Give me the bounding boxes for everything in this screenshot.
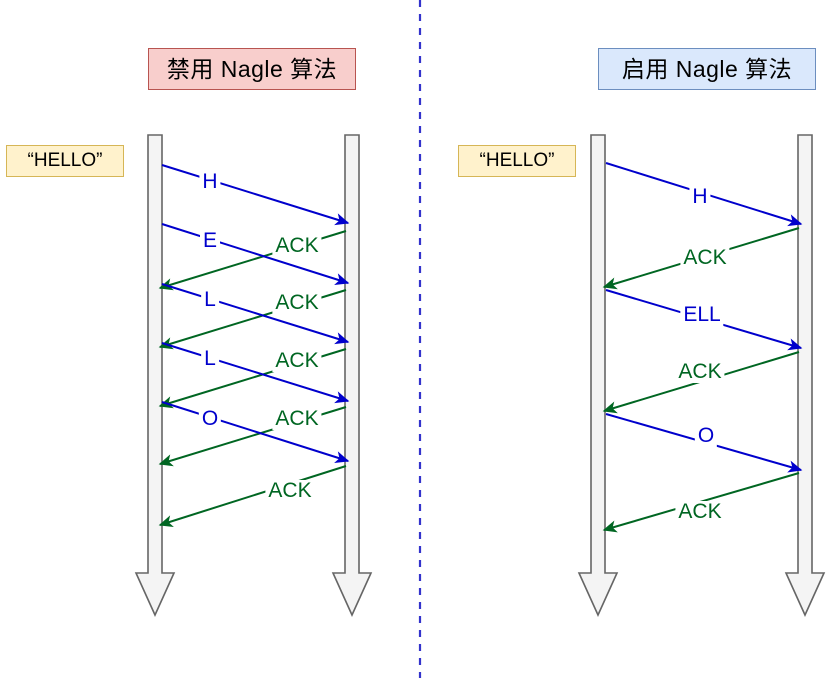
left-message-1-label: ACK <box>272 235 321 257</box>
message-arrows-layer <box>160 163 801 530</box>
panel-title-nagle-disabled: 禁用 Nagle 算法 <box>148 48 356 90</box>
left-message-3-label: ACK <box>272 292 321 314</box>
right-message-5-label: ACK <box>675 501 724 523</box>
left-client-lifeline <box>136 135 174 615</box>
left-message-0-data-arrow <box>162 165 348 223</box>
right-server-lifeline <box>786 135 824 615</box>
right-message-0-label: H <box>689 186 710 208</box>
left-message-5-label: ACK <box>272 350 321 372</box>
left-server-lifeline <box>333 135 371 615</box>
right-message-3-label: ACK <box>675 361 724 383</box>
left-message-7-label: ACK <box>272 408 321 430</box>
right-client-lifeline <box>579 135 617 615</box>
left-message-4-label: L <box>201 289 219 311</box>
left-message-9-ack-arrow <box>160 466 346 525</box>
left-message-8-label: O <box>199 408 221 430</box>
left-message-6-label: L <box>201 348 219 370</box>
right-message-2-label: ELL <box>680 304 723 326</box>
left-message-0-label: H <box>199 171 220 193</box>
left-message-2-label: E <box>200 230 220 252</box>
panel-title-nagle-enabled: 启用 Nagle 算法 <box>598 48 816 90</box>
payload-label-right: “HELLO” <box>458 145 576 177</box>
right-message-1-label: ACK <box>680 247 729 269</box>
diagram-canvas <box>0 0 836 678</box>
right-message-4-label: O <box>695 425 717 447</box>
payload-label-left: “HELLO” <box>6 145 124 177</box>
left-message-9-label: ACK <box>265 480 314 502</box>
